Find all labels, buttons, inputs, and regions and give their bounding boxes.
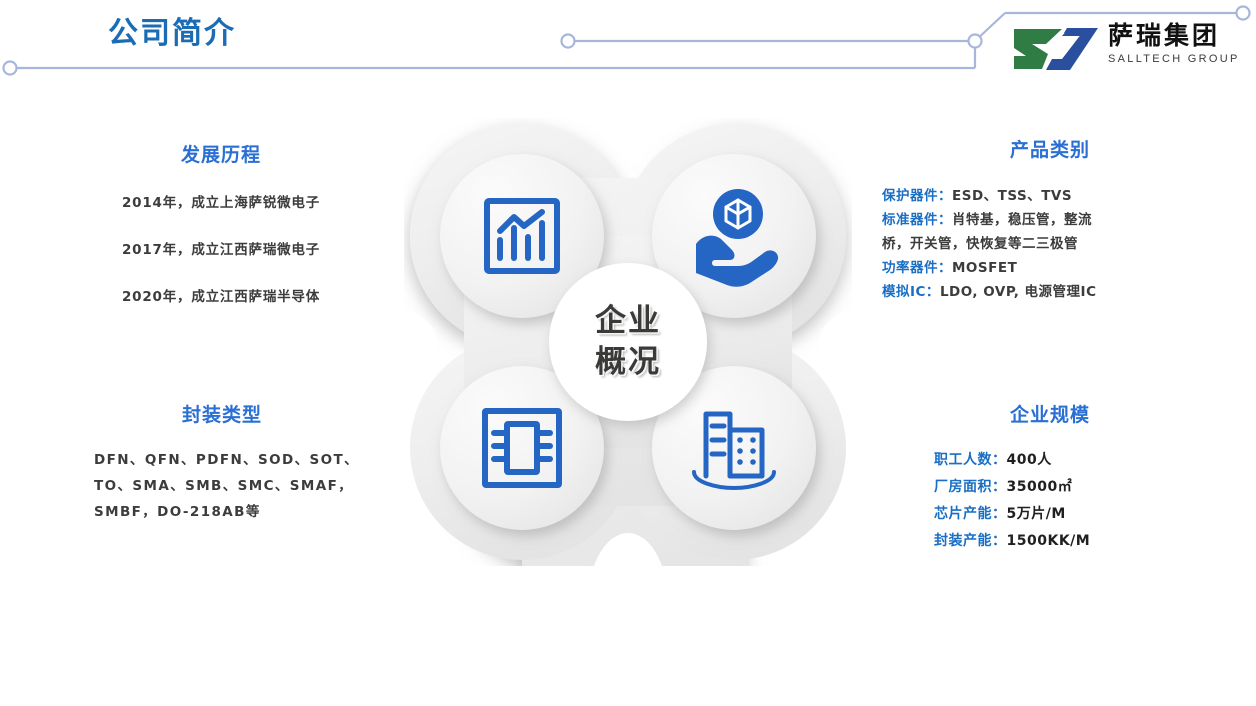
center-infographic: 企业 概况	[404, 118, 852, 566]
center-disc	[549, 263, 707, 421]
product-row-value: MOSFET	[952, 260, 1017, 276]
page-title: 公司简介	[108, 8, 236, 52]
product-row-value: 桥，开关管，快恢复等二三极管	[882, 236, 1078, 252]
scale-row: 职工人数：400人	[934, 447, 1220, 474]
history-item: 2020年，成立江西萨瑞半导体	[56, 285, 386, 305]
product-categories-list: 保护器件：ESD、TSS、TVS 标准器件：肖特基，稳压管，整流 桥，开关管，快…	[860, 184, 1240, 304]
product-row-value: LDO, OVP, 电源管理IC	[940, 284, 1097, 300]
product-row: 保护器件：ESD、TSS、TVS	[882, 184, 1240, 208]
product-row-key: 模拟IC：	[882, 284, 940, 300]
package-types-text: DFN、QFN、PDFN、SOD、SOT、TO、SMA、SMB、SMC、SMAF…	[62, 447, 382, 525]
section-history: 发展历程 2014年，成立上海萨锐微电子 2017年，成立江西萨瑞微电子 202…	[56, 140, 386, 332]
logo-english-name: SALLTECH GROUP	[1108, 51, 1248, 67]
section-enterprise-scale-title: 企业规模	[880, 400, 1220, 427]
scale-row: 封装产能：1500KK/M	[934, 528, 1220, 555]
scale-row: 厂房面积：35000㎡	[934, 474, 1220, 501]
slide-header: 公司简介 萨瑞集团 SALLTECH GROUP	[0, 0, 1256, 100]
history-item: 2017年，成立江西萨瑞微电子	[56, 238, 386, 258]
center-infographic-svg	[404, 118, 852, 566]
history-item: 2014年，成立上海萨锐微电子	[56, 191, 386, 211]
product-row: 模拟IC：LDO, OVP, 电源管理IC	[882, 280, 1240, 304]
deco-node-left	[4, 62, 17, 75]
section-history-title: 发展历程	[56, 140, 386, 167]
scale-row-value: 400人	[1007, 452, 1052, 468]
product-row-key: 标准器件：	[882, 212, 952, 228]
salltech-logo-mark-icon	[1012, 26, 1100, 72]
logo-wordmark: 萨瑞集团 SALLTECH GROUP	[1108, 22, 1248, 67]
section-product-categories: 产品类别 保护器件：ESD、TSS、TVS 标准器件：肖特基，稳压管，整流 桥，…	[860, 135, 1240, 304]
product-row-key: 保护器件：	[882, 188, 952, 204]
product-row: 标准器件：肖特基，稳压管，整流	[882, 208, 1240, 232]
scale-row-value: 35000㎡	[1007, 479, 1073, 495]
scale-row-key: 厂房面积：	[934, 479, 1007, 495]
section-package-types-title: 封装类型	[62, 400, 382, 427]
deco-node-junction	[969, 35, 982, 48]
section-enterprise-scale: 企业规模 职工人数：400人 厂房面积：35000㎡ 芯片产能：5万片/M 封装…	[880, 400, 1220, 555]
section-product-categories-title: 产品类别	[860, 135, 1240, 162]
scale-row: 芯片产能：5万片/M	[934, 501, 1220, 528]
enterprise-scale-list: 职工人数：400人 厂房面积：35000㎡ 芯片产能：5万片/M 封装产能：15…	[880, 447, 1220, 555]
company-logo: 萨瑞集团 SALLTECH GROUP	[1012, 22, 1244, 78]
logo-chinese-name: 萨瑞集团	[1108, 22, 1248, 50]
product-row-key: 功率器件：	[882, 260, 952, 276]
product-row: 功率器件：MOSFET	[882, 256, 1240, 280]
scale-row-key: 封装产能：	[934, 533, 1007, 549]
scale-row-key: 芯片产能：	[934, 506, 1007, 522]
scale-row-key: 职工人数：	[934, 452, 1007, 468]
scale-row-value: 1500KK/M	[1007, 533, 1091, 549]
deco-node-right	[1237, 7, 1250, 20]
section-package-types: 封装类型 DFN、QFN、PDFN、SOD、SOT、TO、SMA、SMB、SMC…	[62, 400, 382, 525]
product-row-value: 肖特基，稳压管，整流	[952, 212, 1092, 228]
product-row-value: ESD、TSS、TVS	[952, 188, 1072, 204]
deco-node-mid	[562, 35, 575, 48]
scale-row-value: 5万片/M	[1007, 506, 1066, 522]
product-row: 桥，开关管，快恢复等二三极管	[882, 232, 1240, 256]
slide-canvas: 公司简介 萨瑞集团 SALLTECH GROUP 发展历程 2014年，成立上海…	[0, 0, 1256, 706]
